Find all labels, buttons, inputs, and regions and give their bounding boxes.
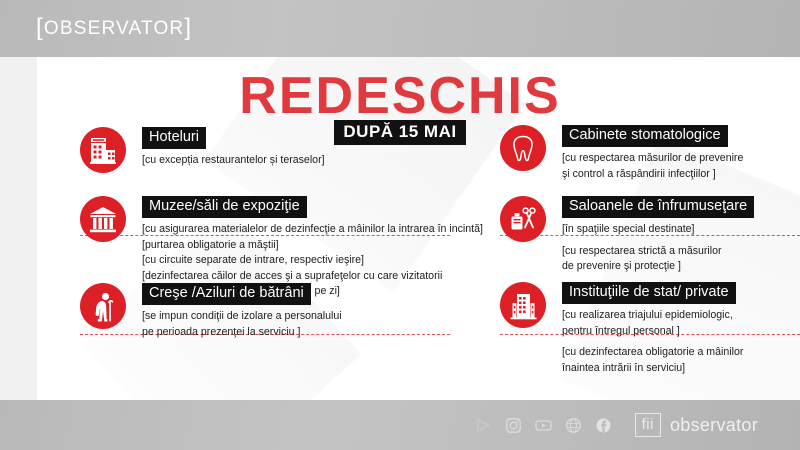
entry-notes: [se impun condiţii de izolare a personal… — [142, 309, 342, 340]
globe-icon[interactable] — [565, 417, 582, 434]
tooth-icon — [500, 125, 546, 171]
note-line: [cu dezinfectarea obligatorie a mâinilor — [562, 345, 743, 361]
youtube-icon[interactable] — [535, 417, 552, 434]
note-line: [cu realizarea triajului epidemiologic, — [562, 308, 743, 324]
fii-box-label: fii — [635, 413, 661, 437]
note-line: [în spaţiile special destinate] — [562, 222, 754, 238]
note-line: pentru întregul personal ] — [562, 324, 743, 340]
note-line: şi control a răspândirii infecţiilor ] — [562, 167, 743, 183]
fii-observator-logo[interactable]: fii observator — [635, 413, 758, 437]
note-line: [se impun condiţii de izolare a personal… — [142, 309, 342, 325]
note-line: [cu excepția restaurantelor și teraselor… — [142, 153, 325, 169]
entry-title: Saloanele de înfrumuseţare — [562, 196, 754, 218]
note-line: [purtarea obligatorie a măştii] — [142, 238, 483, 254]
hotel-building-icon — [80, 127, 126, 173]
page-title: REDESCHIS — [0, 70, 800, 122]
observator-logo: [OBSERVATOR] — [36, 14, 192, 42]
fii-observator-word: observator — [670, 415, 758, 436]
play-icon[interactable] — [475, 417, 492, 434]
entry-body: Creşe /Aziluri de bătrâni [se impun cond… — [142, 283, 342, 340]
entry-notes: [cu realizarea triajului epidemiologic, … — [562, 308, 743, 376]
infographic-slide: [OBSERVATOR] REDESCHIS DUPĂ 15 MAI — [0, 0, 800, 450]
logo-text: OBSERVATOR — [44, 18, 184, 39]
facebook-icon[interactable] — [595, 417, 612, 434]
note-line: [cu respectarea măsurilor de prevenire — [562, 151, 743, 167]
entry-notes: [cu respectarea măsurilor de prevenire ş… — [562, 151, 743, 182]
logo-bracket-right: ] — [184, 14, 192, 41]
page-subtitle: DUPĂ 15 MAI — [334, 120, 465, 145]
slide-body: REDESCHIS DUPĂ 15 MAI — [0, 57, 800, 400]
entry-body: Saloanele de înfrumuseţare [în spaţiile … — [562, 196, 754, 275]
entry-body: Hoteluri [cu excepția restaurantelor și … — [142, 127, 325, 169]
note-line: înaintea intrării în serviciu] — [562, 361, 743, 377]
entry-title: Cabinete stomatologice — [562, 125, 728, 147]
logo-bracket-left: [ — [36, 14, 44, 41]
footer-bar: fii observator — [0, 400, 800, 450]
entry-title: Hoteluri — [142, 127, 206, 149]
elderly-person-icon — [80, 283, 126, 329]
note-line: [cu circuite separate de intrare, respec… — [142, 253, 483, 269]
scissors-beauty-icon — [500, 196, 546, 242]
entry-title: Instituţiile de stat/ private — [562, 282, 736, 304]
note-line: [dezinfectarea căilor de acces şi a supr… — [142, 269, 483, 285]
note-line: pe perioada prezenţei la serviciu ] — [142, 325, 342, 341]
entry-body: Cabinete stomatologice [cu respectarea m… — [562, 125, 743, 182]
entry-notes: [cu excepția restaurantelor și teraselor… — [142, 153, 325, 169]
office-building-icon — [500, 282, 546, 328]
header-bar: [OBSERVATOR] — [0, 0, 800, 57]
instagram-icon[interactable] — [505, 417, 522, 434]
note-line: [cu asigurarea materialelor de dezinfecţ… — [142, 222, 483, 238]
entry-title: Muzee/săli de expoziţie — [142, 196, 307, 218]
entry-body: Instituţiile de stat/ private [cu realiz… — [562, 282, 743, 376]
footer-content: fii observator — [475, 400, 758, 450]
note-line: [cu respectarea strictă a măsurilor — [562, 244, 754, 260]
museum-columns-icon — [80, 196, 126, 242]
entry-notes: [în spaţiile special destinate] [cu resp… — [562, 222, 754, 275]
note-line: de prevenire şi protecţie ] — [562, 259, 754, 275]
entry-title: Creşe /Aziluri de bătrâni — [142, 283, 311, 305]
